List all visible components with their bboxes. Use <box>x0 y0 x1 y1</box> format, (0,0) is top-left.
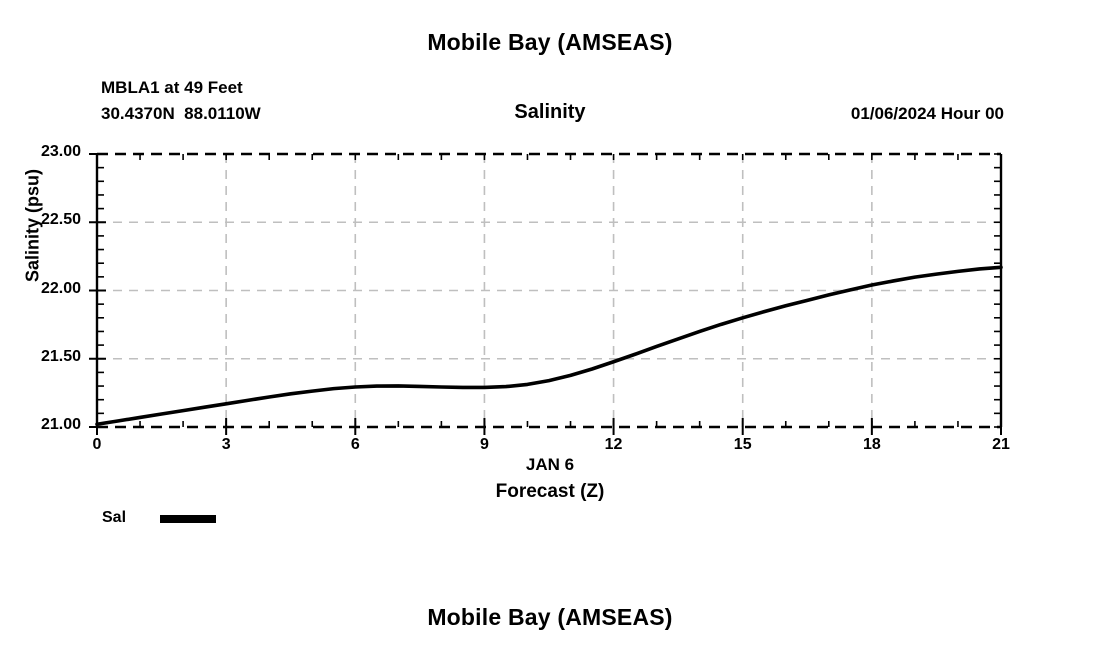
x-tick-label: 0 <box>67 436 127 454</box>
plot-area <box>0 0 1100 650</box>
y-tick-label: 21.00 <box>1 416 81 434</box>
major-tick-marks <box>89 154 1001 435</box>
legend-label: Sal <box>102 509 126 527</box>
gridlines <box>97 154 1001 427</box>
chart-svg <box>0 0 1100 650</box>
x-axis-label: Forecast (Z) <box>0 481 1100 503</box>
x-axis-day-label: JAN 6 <box>0 455 1100 475</box>
x-tick-label: 18 <box>842 436 902 454</box>
x-tick-label: 21 <box>971 436 1031 454</box>
y-tick-label: 22.50 <box>1 211 81 229</box>
y-tick-label: 21.50 <box>1 348 81 366</box>
x-tick-label: 3 <box>196 436 256 454</box>
x-tick-label: 15 <box>713 436 773 454</box>
x-tick-label: 12 <box>584 436 644 454</box>
y-tick-label: 22.00 <box>1 280 81 298</box>
x-tick-label: 9 <box>454 436 514 454</box>
x-tick-label: 6 <box>325 436 385 454</box>
y-tick-label: 23.00 <box>1 143 81 161</box>
chart-page: Mobile Bay (AMSEAS) MBLA1 at 49 Feet 30.… <box>0 0 1100 650</box>
footer-title: Mobile Bay (AMSEAS) <box>0 604 1100 631</box>
legend-swatch <box>160 515 216 523</box>
